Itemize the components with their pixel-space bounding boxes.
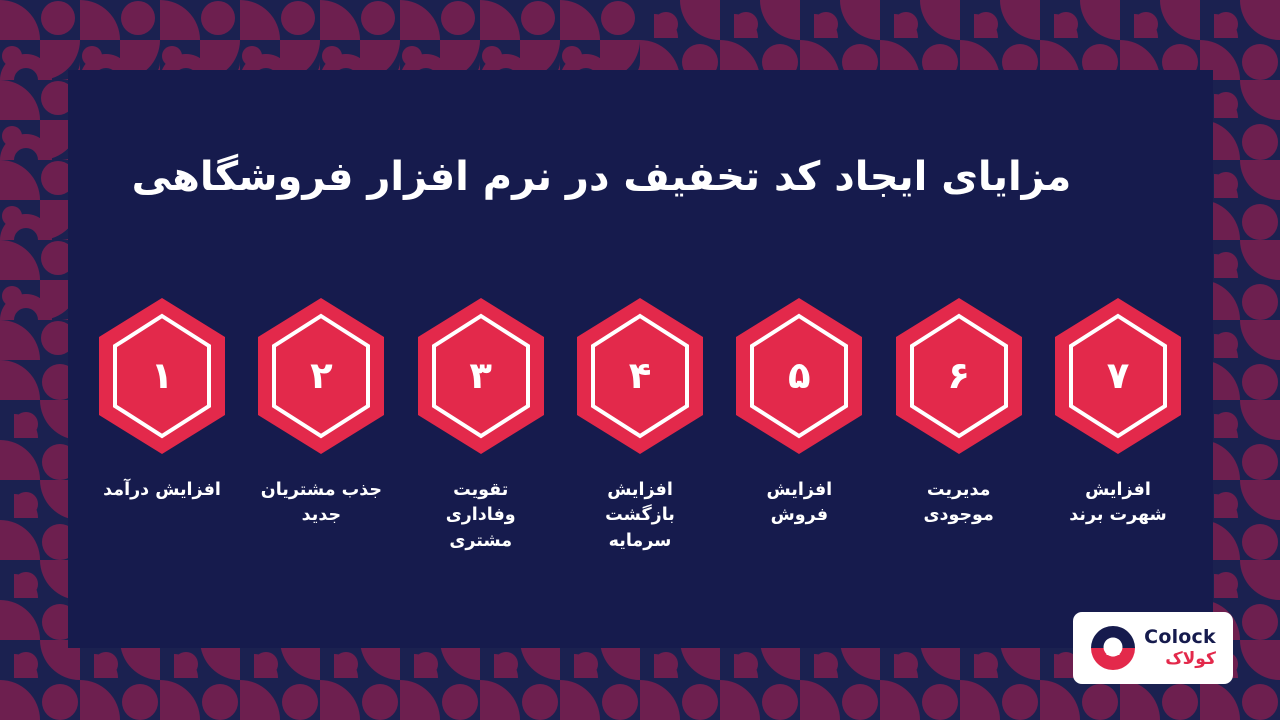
hexagon-badge-3: ۳ — [416, 296, 546, 456]
hexagon-number-6: ۶ — [894, 296, 1024, 456]
benefit-item-4[interactable]: ۴ افزایش بازگشت سرمایه — [574, 296, 706, 554]
hexagon-badge-6: ۶ — [894, 296, 1024, 456]
hexagon-badge-5: ۵ — [734, 296, 864, 456]
benefit-label-5: افزایش فروش — [735, 478, 863, 529]
page-title: مزایای ایجاد کد تخفیف در نرم افزار فروشگ… — [68, 150, 1135, 204]
infographic-slide: مزایای ایجاد کد تخفیف در نرم افزار فروشگ… — [0, 0, 1280, 720]
hexagon-badge-1: ۱ — [97, 296, 227, 456]
benefit-item-2[interactable]: ۲ جذب مشتریان جدید — [255, 296, 387, 529]
logo-latin-text: Colock — [1144, 628, 1216, 647]
hexagon-number-2: ۲ — [256, 296, 386, 456]
benefit-item-3[interactable]: ۳ تقویت وفاداری مشتری — [415, 296, 547, 554]
benefit-item-5[interactable]: ۵ افزایش فروش — [733, 296, 865, 529]
hexagon-number-3: ۳ — [416, 296, 546, 456]
benefit-label-6: مدیریت موجودی — [895, 478, 1023, 529]
hexagon-badge-4: ۴ — [575, 296, 705, 456]
hexagon-number-1: ۱ — [97, 296, 227, 456]
benefit-label-2: جذب مشتریان جدید — [257, 478, 385, 529]
benefit-item-1[interactable]: ۱ افزایش درآمد — [96, 296, 228, 503]
benefit-label-1: افزایش درآمد — [98, 478, 226, 503]
circle-split-mark-icon — [1090, 625, 1136, 671]
logo-persian-text: کولاک — [1165, 651, 1216, 668]
hexagon-number-4: ۴ — [575, 296, 705, 456]
benefits-hexagon-row: ۱ افزایش درآمد ۲ جذب مشتریان جدید ۳ — [96, 296, 1184, 566]
benefit-label-4: افزایش بازگشت سرمایه — [576, 478, 704, 554]
benefit-item-7[interactable]: ۷ افزایش شهرت برند — [1052, 296, 1184, 529]
brand-logo-card[interactable]: Colock کولاک — [1073, 612, 1233, 684]
benefit-item-6[interactable]: ۶ مدیریت موجودی — [893, 296, 1025, 529]
benefit-label-7: افزایش شهرت برند — [1054, 478, 1182, 529]
logo-wordmark: Colock کولاک — [1144, 628, 1216, 668]
hexagon-badge-7: ۷ — [1053, 296, 1183, 456]
hexagon-number-7: ۷ — [1053, 296, 1183, 456]
benefit-label-3: تقویت وفاداری مشتری — [417, 478, 545, 554]
hexagon-number-5: ۵ — [734, 296, 864, 456]
hexagon-badge-2: ۲ — [256, 296, 386, 456]
